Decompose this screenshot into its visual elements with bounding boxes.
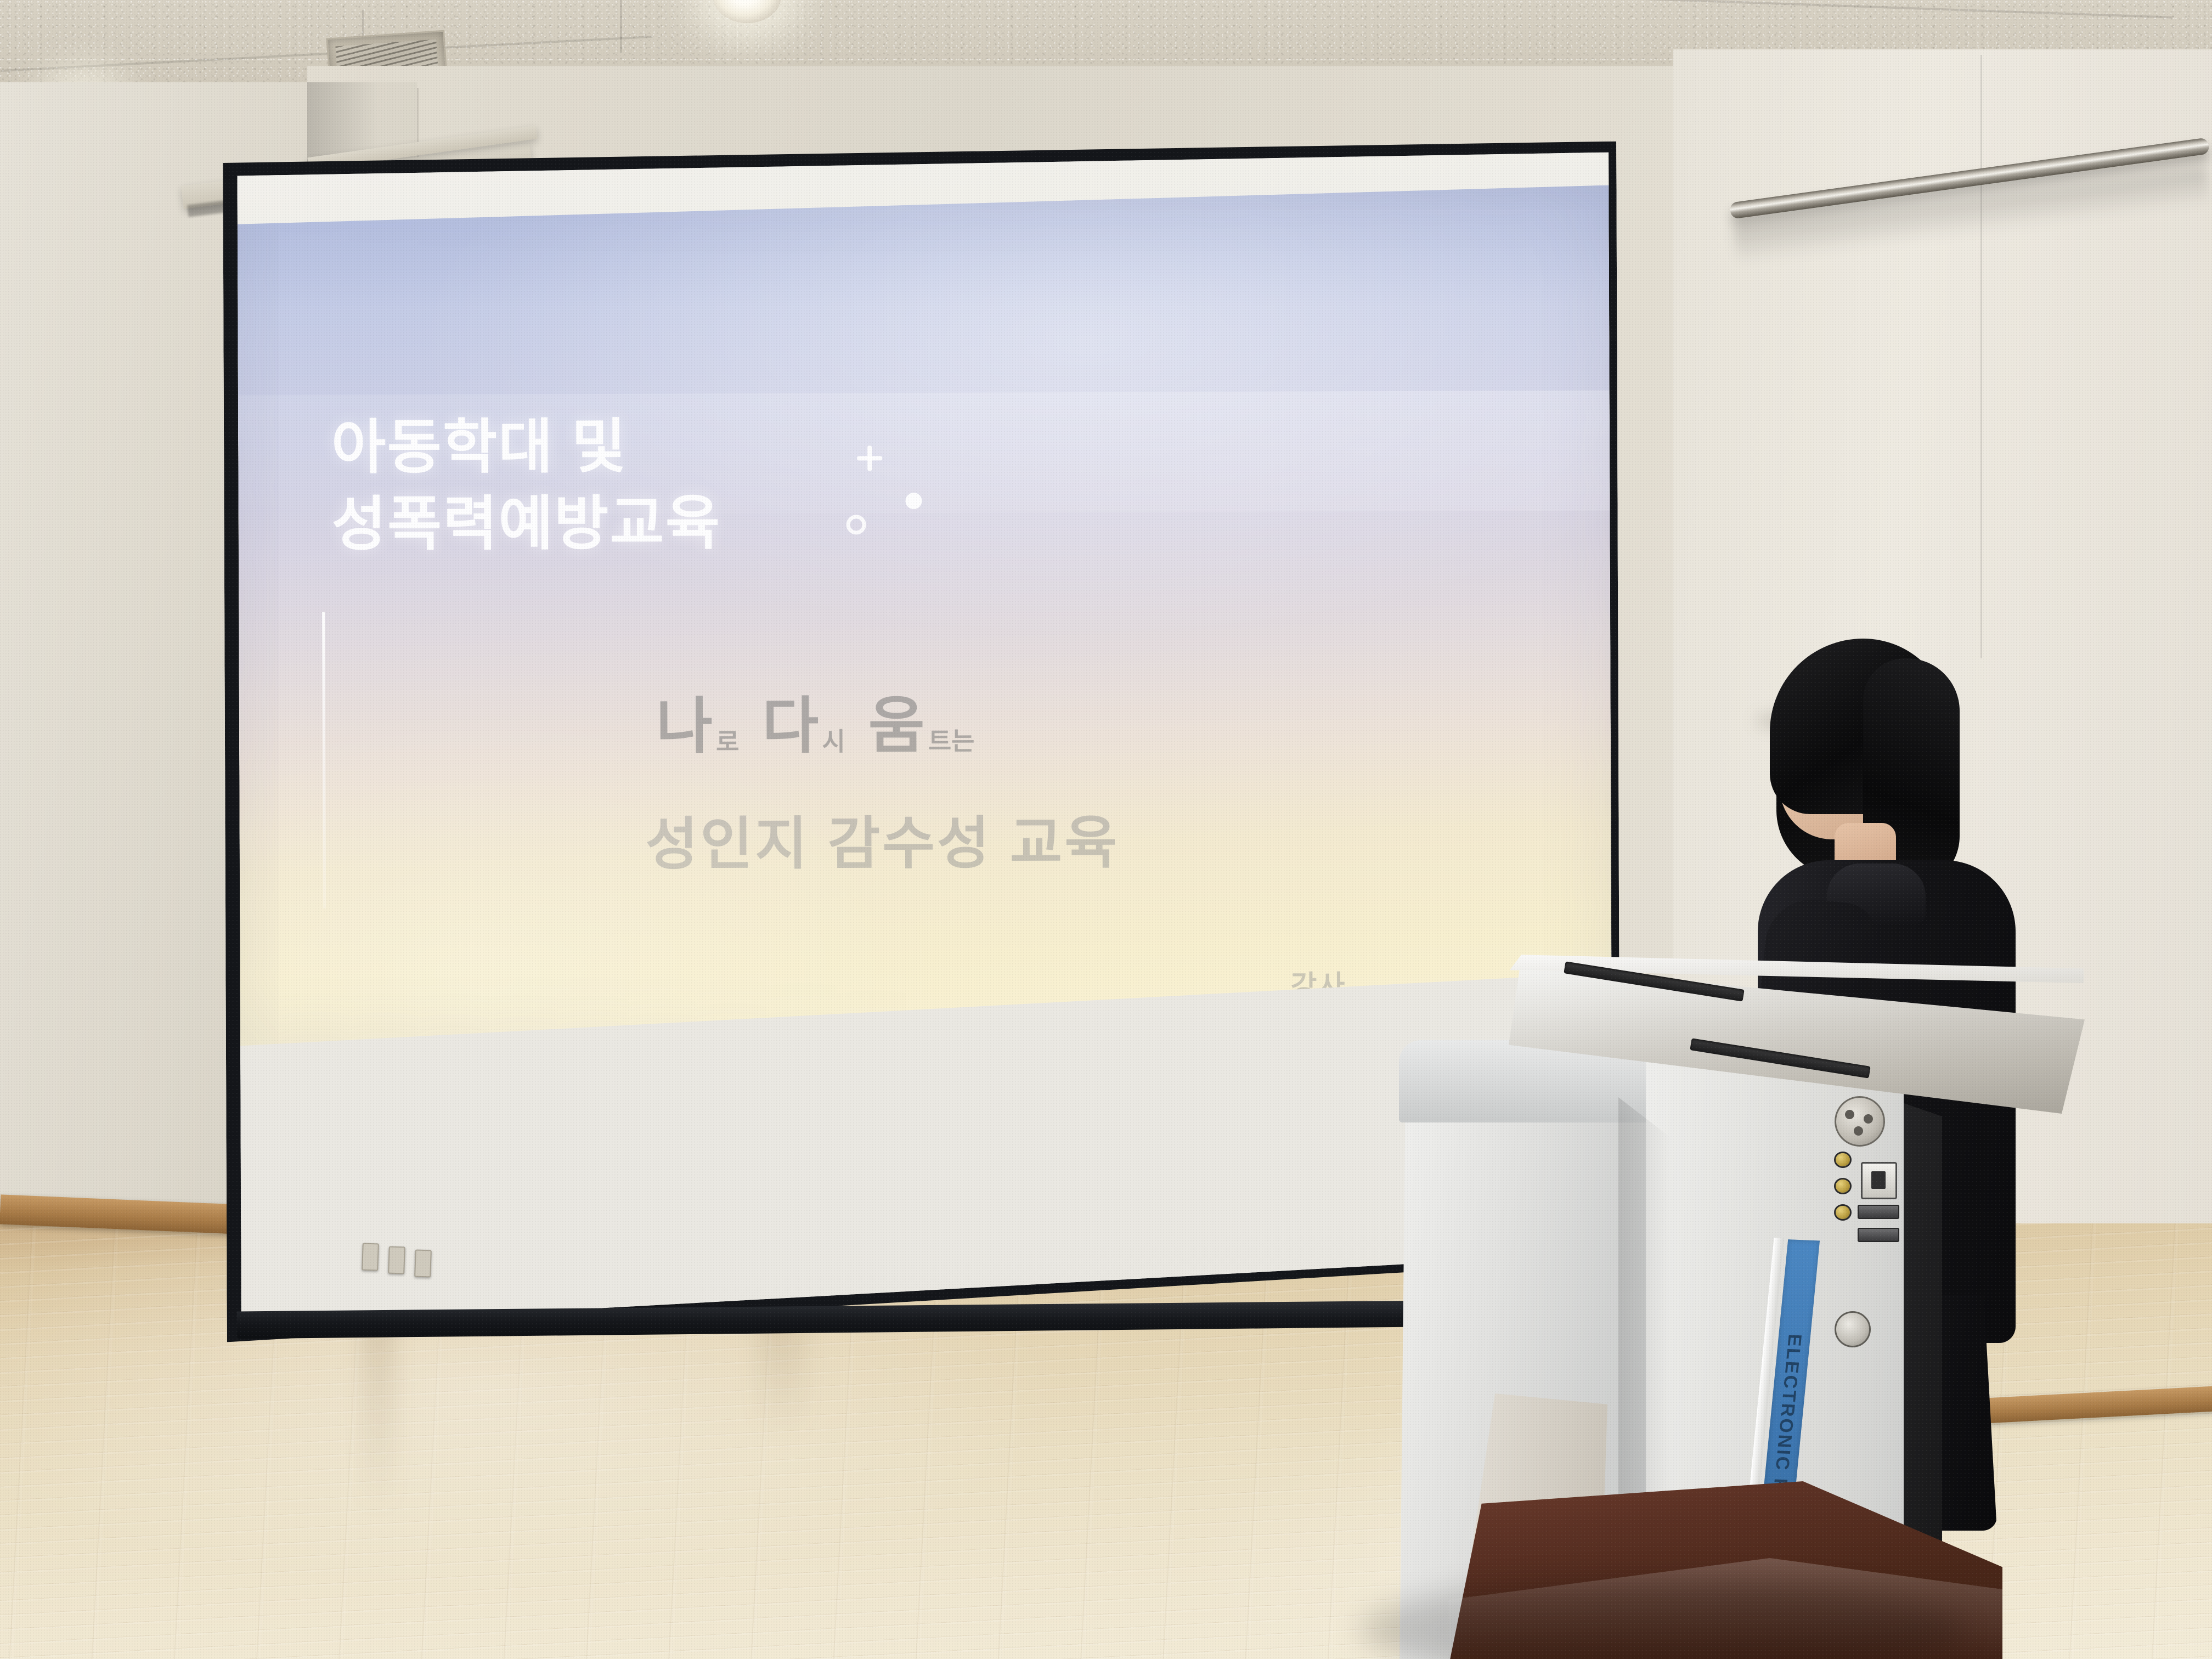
xlr-mic-jack-icon[interactable] xyxy=(1835,1096,1885,1147)
rca-jack-icon[interactable] xyxy=(1836,1180,1850,1193)
usb-port-icon[interactable] xyxy=(1858,1205,1899,1219)
podium-key-lock-icon[interactable] xyxy=(1835,1311,1871,1347)
rj45-port-icon[interactable] xyxy=(1861,1162,1897,1199)
wall-outlet[interactable] xyxy=(362,1243,379,1271)
ceiling-seam xyxy=(620,0,622,53)
projected-slide: 아동학대 및 성폭력예방교육 나로다시움트는 성인지 감수성 교육 강사 xyxy=(237,185,1611,1046)
rca-jack-icon[interactable] xyxy=(1836,1153,1850,1166)
podium-connector-panel[interactable] xyxy=(1821,1092,1926,1256)
wall-seam xyxy=(1980,55,1982,658)
lecture-hall-scene: 아동학대 및 성폭력예방교육 나로다시움트는 성인지 감수성 교육 강사 xyxy=(0,0,2212,1659)
wall-outlet[interactable] xyxy=(414,1249,432,1277)
hdmi-port-icon[interactable] xyxy=(1858,1228,1899,1242)
rca-jack-icon[interactable] xyxy=(1836,1206,1850,1219)
wall-outlet[interactable] xyxy=(388,1246,405,1274)
slide-vignette xyxy=(237,185,1611,1046)
